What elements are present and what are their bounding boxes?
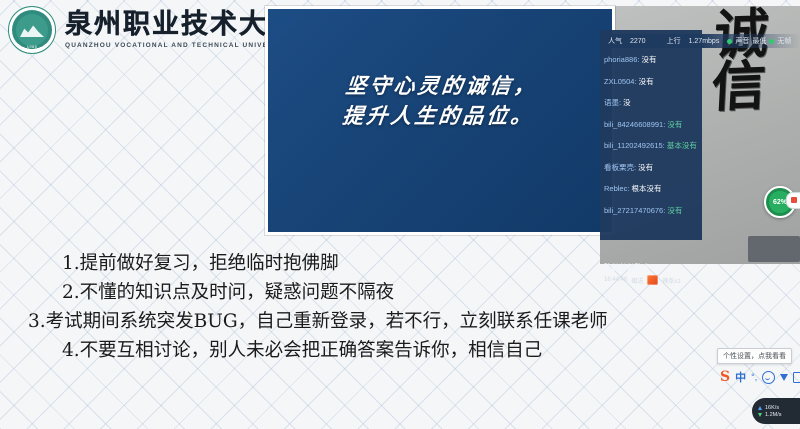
uplink-value: 1.27mbps: [689, 38, 720, 45]
chat-message: bili_11202492615: 基本没有: [604, 140, 724, 151]
chat-message-list[interactable]: phoria886: 没有 ZXL0504: 没有 语墨: 没 bili_842…: [604, 54, 724, 226]
chat-nick: phoria886: [604, 55, 637, 64]
upload-arrow-icon: [758, 406, 762, 410]
ime-mode-chinese[interactable]: 中: [735, 369, 746, 385]
chat-text: 没: [623, 98, 631, 107]
status-indicator-1: 声音: [735, 36, 749, 46]
slide-line: 2.不懂的知识点及时问，疑惑问题不隔夜: [28, 279, 628, 308]
slide-line: 3.考试期间系统突发BUG，自己重新登录，若不行，立刻联系任课老师: [28, 308, 628, 337]
chat-message: bili_27217470676: 没有: [604, 205, 724, 216]
chat-text: 没有: [667, 120, 682, 129]
status-indicator-2: 最低: [752, 36, 766, 46]
chat-text: 没有: [642, 55, 657, 64]
gift-action: 赠送: [631, 276, 643, 285]
banner-line-1: 坚守心灵的诚信，: [268, 71, 612, 101]
gift-icon: [647, 275, 658, 285]
ime-tooltip[interactable]: 个性设置，点我看看: [717, 348, 792, 364]
speed-widget-pill[interactable]: [786, 192, 800, 209]
chat-nick: 看板栗壳: [604, 163, 634, 172]
slide-line: 4.不要互相讨论，别人未必会把正确答案告诉你，相信自己: [28, 337, 628, 366]
chat-nick: ZXL0504: [604, 77, 634, 86]
gift-item: 辣条x1: [662, 276, 680, 285]
keyboard-icon[interactable]: [793, 372, 800, 383]
status-dot-frame-icon: [769, 39, 774, 44]
university-seal-icon: 1985: [8, 6, 56, 54]
download-speed: 1.2M/s: [765, 412, 782, 418]
status-indicator-3: 无帧: [777, 36, 791, 46]
chat-text: 基本没有: [667, 141, 697, 150]
uplink-label: 上行: [667, 36, 681, 46]
banner-line-2: 提升人生的品位。: [268, 101, 612, 131]
download-icon[interactable]: [780, 374, 788, 381]
chat-nick: 语墨: [604, 98, 619, 107]
status-dot-sound-icon: [727, 39, 732, 44]
chat-text: 根本没有: [632, 184, 662, 193]
chat-text: 没有: [638, 163, 653, 172]
chat-nick: bili_11202492615: [604, 141, 663, 150]
chat-message: bili_84246608991: 没有: [604, 119, 724, 130]
banner-slogan: 坚守心灵的诚信， 提升人生的品位。: [268, 71, 612, 132]
chat-nick: bili_84246608991: [604, 120, 663, 129]
popularity-value: 2270: [630, 38, 646, 45]
chat-message: Reblec: 根本没有: [604, 183, 724, 194]
chat-text: 没有: [667, 206, 682, 215]
chat-message: ZXL0504: 没有: [604, 76, 724, 87]
popularity-label: 人气: [608, 36, 622, 46]
sogou-ime-toolbar[interactable]: S 中 °,: [717, 368, 800, 386]
chat-text: 没有: [639, 77, 654, 86]
network-monitor-widget[interactable]: 16K/s 1.2M/s: [752, 398, 800, 424]
download-arrow-icon: [758, 413, 762, 417]
university-header: 1985 泉州职业技术大学 QUANZHOU VOCATIONAL AND TE…: [8, 6, 297, 54]
video-stage[interactable]: 坚守心灵的诚信， 提升人生的品位。: [268, 9, 612, 232]
slide-content: 1.提前做好复习，拒绝临时抱佛脚 2.不懂的知识点及时问，疑惑问题不隔夜 3.考…: [28, 250, 628, 365]
live-status-bar: 人气 2270 上行 1.27mbps 声音 最低 无帧: [600, 34, 800, 48]
chat-message: 语墨: 没: [604, 97, 724, 108]
chat-nick: bili_27217470676: [604, 206, 663, 215]
chat-nick: Reblec: [604, 184, 627, 193]
university-name-en: QUANZHOU VOCATIONAL AND TECHNICAL UNIVER…: [65, 43, 297, 50]
chat-message: 看板栗壳: 没有: [604, 162, 724, 173]
upload-speed: 16K/s: [765, 405, 779, 411]
sogou-logo-icon[interactable]: S: [720, 370, 730, 384]
video-player-window[interactable]: 坚守心灵的诚信， 提升人生的品位。: [265, 6, 615, 235]
university-name-cn: 泉州职业技术大学: [65, 11, 297, 38]
ime-punctuation-icon[interactable]: °,: [751, 372, 757, 382]
video-strip-chip: [748, 236, 800, 262]
slide-line: 1.提前做好复习，拒绝临时抱佛脚: [28, 250, 628, 279]
chat-message: phoria886: 没有: [604, 54, 724, 65]
seal-year: 1985: [9, 44, 55, 49]
emoji-icon[interactable]: [762, 371, 775, 384]
